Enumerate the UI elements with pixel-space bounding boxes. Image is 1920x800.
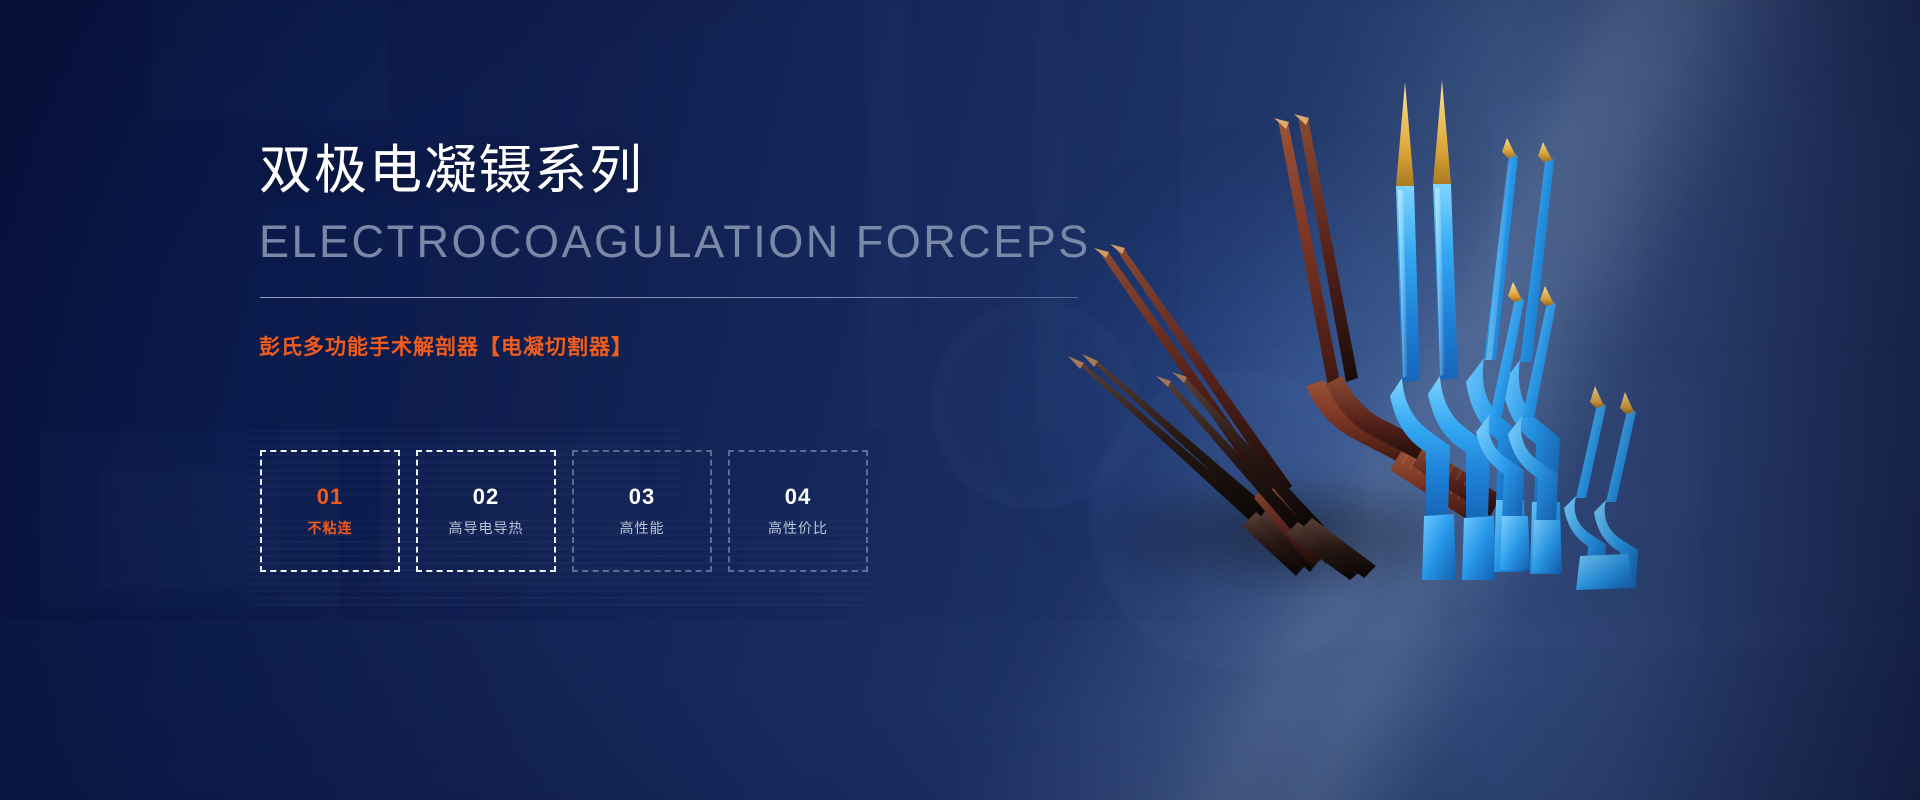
feature-label: 高性价比 [768,520,828,536]
feature-number: 02 [473,486,499,508]
feature-label: 高性能 [620,520,665,536]
forceps-tip [1538,142,1552,162]
feature-card-02[interactable]: 02 高导电导热 [416,450,556,572]
page-title-english: ELECTROCOAGULATION FORCEPS [259,215,1091,269]
forceps-blue-far-right [1564,386,1638,590]
page-title-chinese: 双极电凝镊系列 [259,140,644,202]
product-subtitle: 彭氏多功能手术解剖器【电凝切割器】 [259,334,633,362]
feature-label: 不粘连 [308,520,353,536]
feature-number: 01 [317,486,343,508]
forceps-tip [1502,138,1516,158]
feature-card-03[interactable]: 03 高性能 [572,450,712,572]
title-divider [260,297,1078,298]
feature-card-04[interactable]: 04 高性价比 [728,450,868,572]
feature-number: 03 [629,486,655,508]
product-banner: 双极电凝镊系列 ELECTROCOAGULATION FORCEPS 彭氏多功能… [0,0,1920,800]
banner-text-block: 双极电凝镊系列 ELECTROCOAGULATION FORCEPS 彭氏多功能… [0,0,1100,800]
forceps-blue-right-short [1476,282,1562,572]
feature-card-01[interactable]: 01 不粘连 [260,450,400,572]
feature-number: 04 [785,486,811,508]
feature-list: 01 不粘连 02 高导电导热 03 高性能 04 高性价比 [260,450,868,572]
feature-label: 高导电导热 [449,520,524,536]
